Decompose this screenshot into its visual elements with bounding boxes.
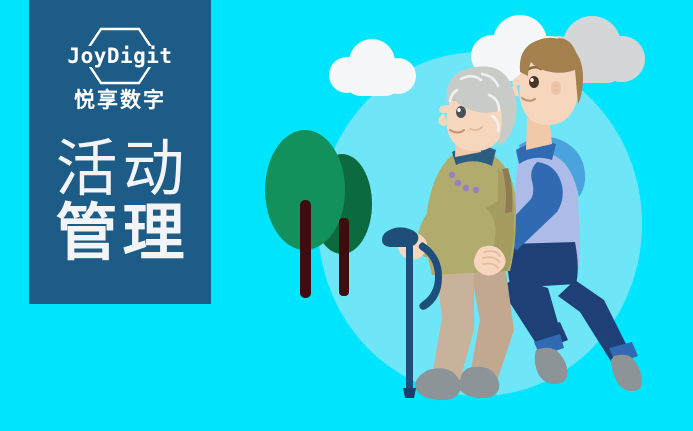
logo-wordmark: JoyDigit <box>64 46 175 67</box>
tree-trunk-right <box>339 218 349 296</box>
page-title-line-1: 活动 <box>50 137 189 201</box>
logo-block: JoyDigit <box>50 27 190 85</box>
young-man-ear <box>551 81 561 95</box>
young-man-eye-highlight <box>530 78 533 82</box>
brand-panel: JoyDigit 悦享数字 活动 管理 <box>29 0 211 304</box>
page-title-line-2: 管理 <box>50 201 189 265</box>
cane-tip <box>403 388 416 398</box>
elderly-woman-eye <box>456 106 466 118</box>
brand-company-name-cn: 悦享数字 <box>74 90 166 111</box>
tree-trunk-left <box>300 200 311 298</box>
banner-root: JoyDigit 悦享数字 活动 管理 <box>0 0 693 431</box>
page-title: 活动 管理 <box>50 137 189 266</box>
elderly-woman-eye-highlight <box>457 108 460 112</box>
young-man-eye <box>529 76 539 88</box>
